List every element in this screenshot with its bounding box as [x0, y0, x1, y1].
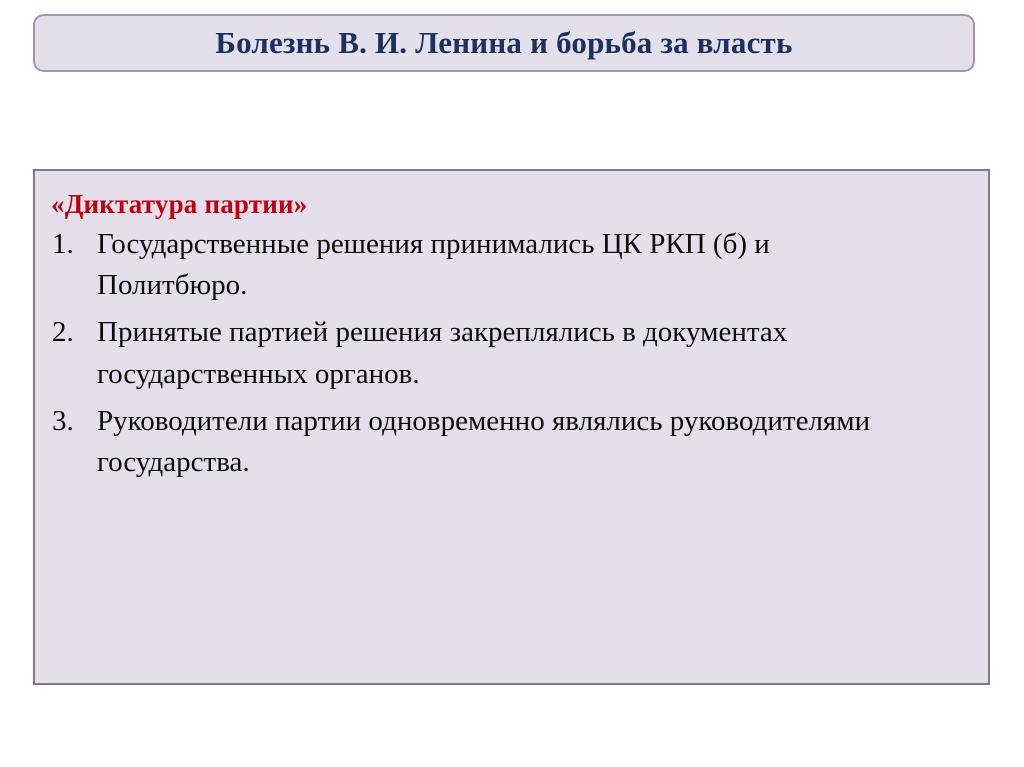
section-heading: «Диктатура партии»: [51, 189, 968, 220]
list-item-number: 2.: [43, 312, 97, 353]
list-item: 3. Руководители партии одновременно явля…: [43, 401, 968, 483]
list-item: 2. Принятые партией решения закреплялись…: [43, 312, 968, 394]
slide-canvas: Болезнь В. И. Ленина и борьба за власть …: [0, 0, 1024, 767]
page-title: Болезнь В. И. Ленина и борьба за власть: [215, 27, 792, 60]
slide-content-panel: «Диктатура партии» 1. Государственные ре…: [33, 169, 990, 685]
list-item: 1. Государственные решения принимались Ц…: [43, 224, 968, 306]
list-item-text: Государственные решения принимались ЦК Р…: [97, 224, 912, 306]
slide-title-box: Болезнь В. И. Ленина и борьба за власть: [33, 14, 975, 72]
list-item-number: 3.: [43, 401, 97, 442]
list-item-number: 1.: [43, 224, 97, 265]
list-item-text: Принятые партией решения закреплялись в …: [97, 312, 912, 394]
numbered-list: 1. Государственные решения принимались Ц…: [43, 224, 968, 483]
list-item-text: Руководители партии одновременно являлис…: [97, 401, 912, 483]
